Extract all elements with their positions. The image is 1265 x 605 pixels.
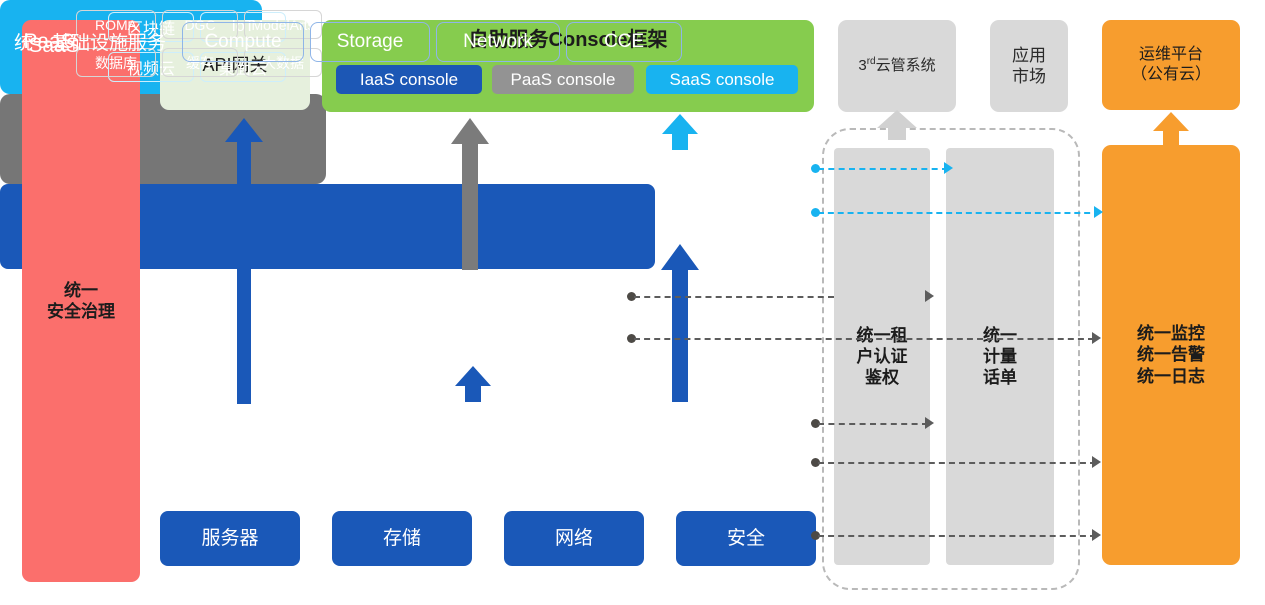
connector-arrowhead-saas-1 [944,162,953,174]
third-party-prefix: 3 [858,57,866,74]
third-party-label: 3rd云管系统 [858,56,935,76]
unified-billing-column: 统一 计量 话单 [946,148,1054,565]
connector-infra-to-ops [818,462,1096,464]
auth-line2: 户认证 [857,346,908,367]
resource-box-network[interactable]: 网络 [504,511,644,566]
connector-arrowhead-paas-ops [1092,332,1101,344]
auth-line3: 鉴权 [857,367,908,388]
third-party-sup: rd [867,56,876,67]
app-market-line2: 市场 [1012,66,1046,87]
unified-tenant-auth-column: 统一租 户认证 鉴权 [834,148,930,565]
infra-item-network[interactable]: Network [436,22,560,62]
iaas-console-pill[interactable]: IaaS console [336,65,482,94]
connector-paas-to-auth [634,296,834,298]
security-governance-line2: 安全治理 [47,301,115,322]
arrow-infra-to-saas [658,244,702,402]
connector-arrowhead-saas-2 [1094,206,1103,218]
resource-box-security[interactable]: 安全 [676,511,816,566]
connector-arrowhead-resources-ops [1092,529,1101,541]
infra-item-cce[interactable]: CCE [566,22,682,62]
app-market-box: 应用 市场 [990,20,1068,112]
billing-line1: 统一 [983,325,1017,346]
third-party-suffix: 云管系统 [876,57,936,74]
ops-panel-line1: 统一监控 [1137,323,1205,344]
connector-arrowhead-auth [925,290,934,302]
ops-public-line2: （公有云） [1131,65,1211,85]
arrow-paas-to-console [448,118,492,270]
arrow-infra-to-paas [452,366,494,402]
ops-platform-public-cloud-box: 运维平台 （公有云） [1102,20,1240,110]
arrow-ops-panel-to-public-cloud [1149,112,1193,146]
connector-saas-to-ops [818,212,1100,214]
infra-item-storage[interactable]: Storage [310,22,430,62]
auth-line1: 统一租 [857,325,908,346]
unified-infrastructure-label: 统一基础设施服务 [14,28,166,55]
connector-paas-to-ops [634,338,1094,340]
ops-panel-line3: 统一日志 [1137,366,1205,387]
connector-resources-to-ops [818,535,1096,537]
ops-public-line1: 运维平台 [1131,45,1211,65]
paas-console-pill[interactable]: PaaS console [492,65,634,94]
arrow-zone-to-third-party [874,110,920,140]
billing-line2: 计量 [983,346,1017,367]
security-governance-panel: 统一 安全治理 [22,20,140,582]
ops-panel-line2: 统一告警 [1137,344,1205,365]
billing-line3: 话单 [983,367,1017,388]
saas-console-pill[interactable]: SaaS console [646,65,798,94]
ops-monitoring-panel: 统一监控 统一告警 统一日志 [1102,145,1240,565]
connector-saas-to-billing [818,168,948,170]
infra-item-compute[interactable]: Compute [182,22,304,62]
resource-box-server[interactable]: 服务器 [160,511,300,566]
third-party-cloud-mgmt-box: 3rd云管系统 [838,20,956,112]
connector-arrowhead-infra-auth [925,417,934,429]
connector-arrowhead-infra-ops [1092,456,1101,468]
security-governance-line1: 统一 [47,280,115,301]
arrow-saas-to-console [658,114,702,150]
app-market-line1: 应用 [1012,45,1046,66]
connector-infra-to-auth [818,423,928,425]
arrow-infra-to-api-gateway [222,118,266,404]
resource-box-storage[interactable]: 存储 [332,511,472,566]
architecture-diagram: 统一 安全治理 API网关 自助服务Console框架 IaaS console… [0,0,1265,605]
